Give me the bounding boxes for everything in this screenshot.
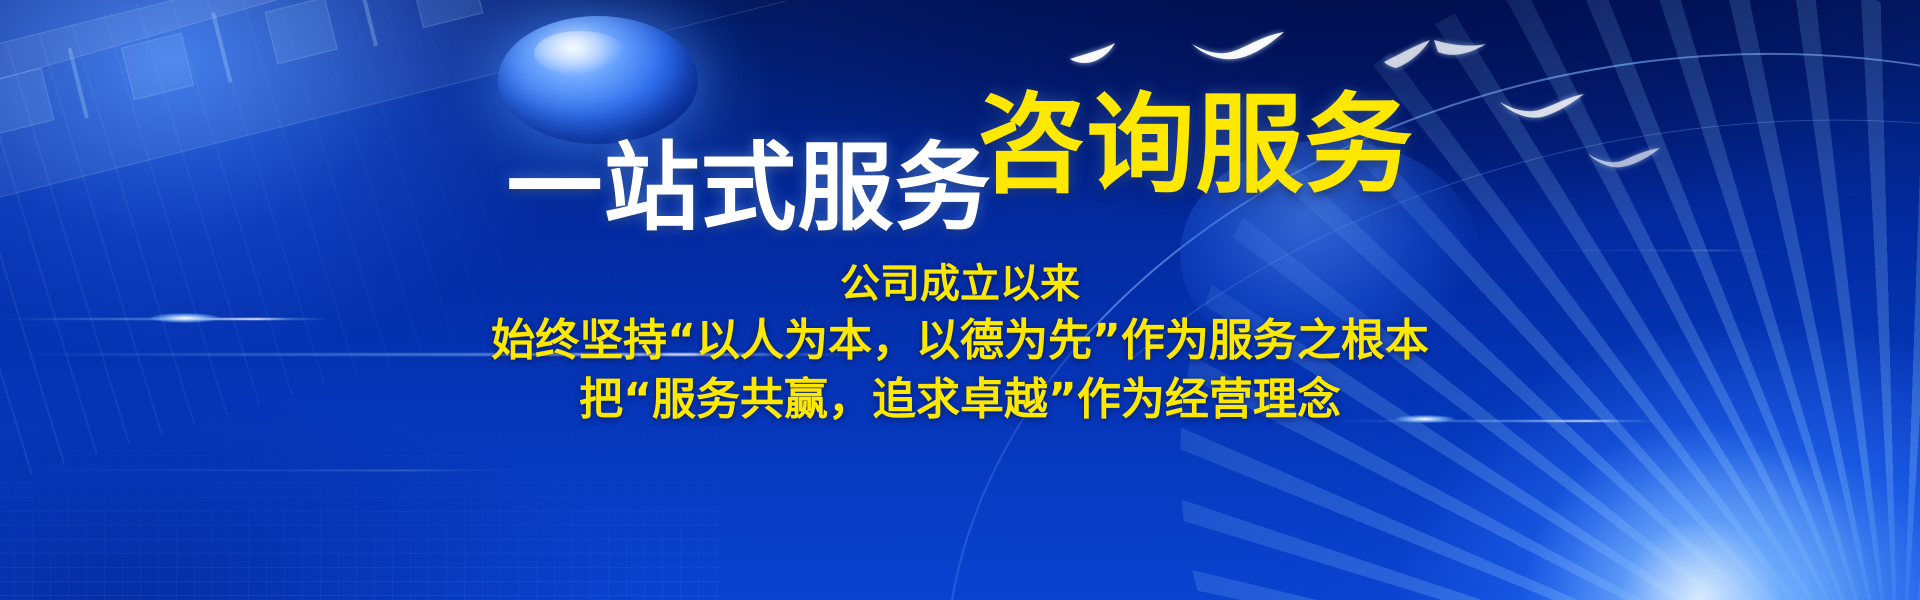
headline: 一站式服务 咨询服务 <box>0 92 1920 200</box>
body-line-3: 把“服务共赢，追求卓越”作为经营理念 <box>0 371 1920 430</box>
seagull-icon <box>1382 36 1490 72</box>
light-streak <box>1480 250 1780 251</box>
seagull-icon <box>1190 30 1300 64</box>
body-line-1: 公司成立以来 <box>0 258 1920 312</box>
promo-banner: 一站式服务 咨询服务 公司成立以来 始终坚持“以人为本，以德为先”作为服务之根本… <box>0 0 1920 600</box>
headline-primary-text: 一站式服务 <box>506 140 991 236</box>
seagull-icon <box>1068 40 1164 70</box>
body-line-2: 始终坚持“以人为本，以德为先”作为服务之根本 <box>0 312 1920 371</box>
light-streak <box>0 470 520 471</box>
headline-accent-text: 咨询服务 <box>977 92 1413 200</box>
body-copy: 公司成立以来 始终坚持“以人为本，以德为先”作为服务之根本 把“服务共赢，追求卓… <box>0 258 1920 430</box>
